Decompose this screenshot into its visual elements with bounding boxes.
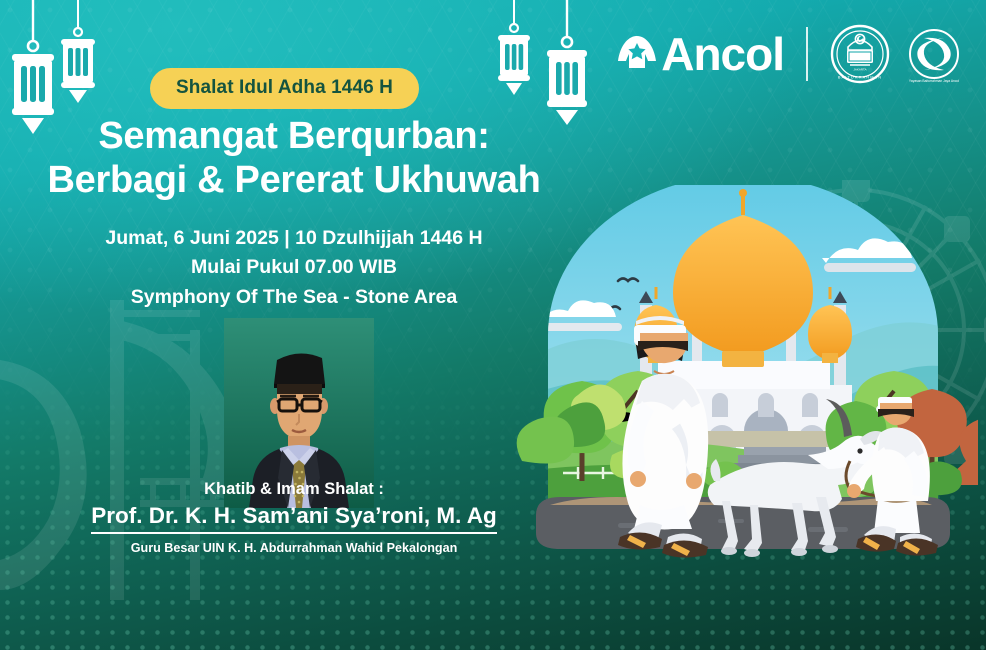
page-title: Semangat Berqurban: Berbagi & Pererat Uk… (14, 114, 574, 202)
ancol-wordmark[interactable]: Ancol (615, 31, 784, 77)
svg-text:BAITURRAHMAN: BAITURRAHMAN (838, 75, 882, 80)
eid-al-adha-mosque-scene (508, 185, 978, 565)
vertical-divider (806, 27, 808, 81)
event-time: Mulai Pukul 07.00 WIB (14, 253, 574, 282)
speaker-block: Khatib & Imam Shalat : Prof. Dr. K. H. S… (14, 480, 574, 555)
event-date: Jumat, 6 Juni 2025 | 10 Dzulhijjah 1446 … (14, 224, 574, 253)
hanging-lantern-icon (545, 0, 589, 128)
yayasan-baiturrahman-emblem: Yayasan Baiturrahman Jaya Ancol (904, 24, 964, 84)
star-icon (615, 32, 659, 76)
headline-line-1: Semangat Berqurban: (98, 115, 489, 157)
hanging-lantern-icon (60, 0, 96, 110)
poster-canvas: Ancol JAKARTA BAITURRAHMAN Yayasan Baitu… (0, 0, 986, 650)
speaker-name: Prof. Dr. K. H. Sam’ani Sya’roni, M. Ag (91, 503, 497, 534)
event-venue: Symphony Of The Sea - Stone Area (14, 283, 574, 312)
speaker-role: Khatib & Imam Shalat : (14, 480, 574, 499)
event-details: Jumat, 6 Juni 2025 | 10 Dzulhijjah 1446 … (14, 224, 574, 312)
svg-text:Yayasan Baiturrahman Jaya Anco: Yayasan Baiturrahman Jaya Ancol (909, 79, 959, 83)
tree (517, 417, 574, 464)
svg-text:JAKARTA: JAKARTA (853, 68, 866, 72)
speaker-affiliation: Guru Besar UIN K. H. Abdurrahman Wahid P… (14, 541, 574, 555)
event-badge: Shalat Idul Adha 1446 H (150, 68, 419, 109)
headline-line-2: Berbagi & Pererat Ukhuwah (14, 158, 574, 202)
ancol-wordmark-text: Ancol (661, 31, 784, 77)
logo-cluster: Ancol JAKARTA BAITURRAHMAN Yayasan Baitu… (615, 24, 964, 84)
hanging-lantern-icon (497, 0, 531, 102)
masjid-baiturrahman-emblem: JAKARTA BAITURRAHMAN (830, 24, 890, 84)
